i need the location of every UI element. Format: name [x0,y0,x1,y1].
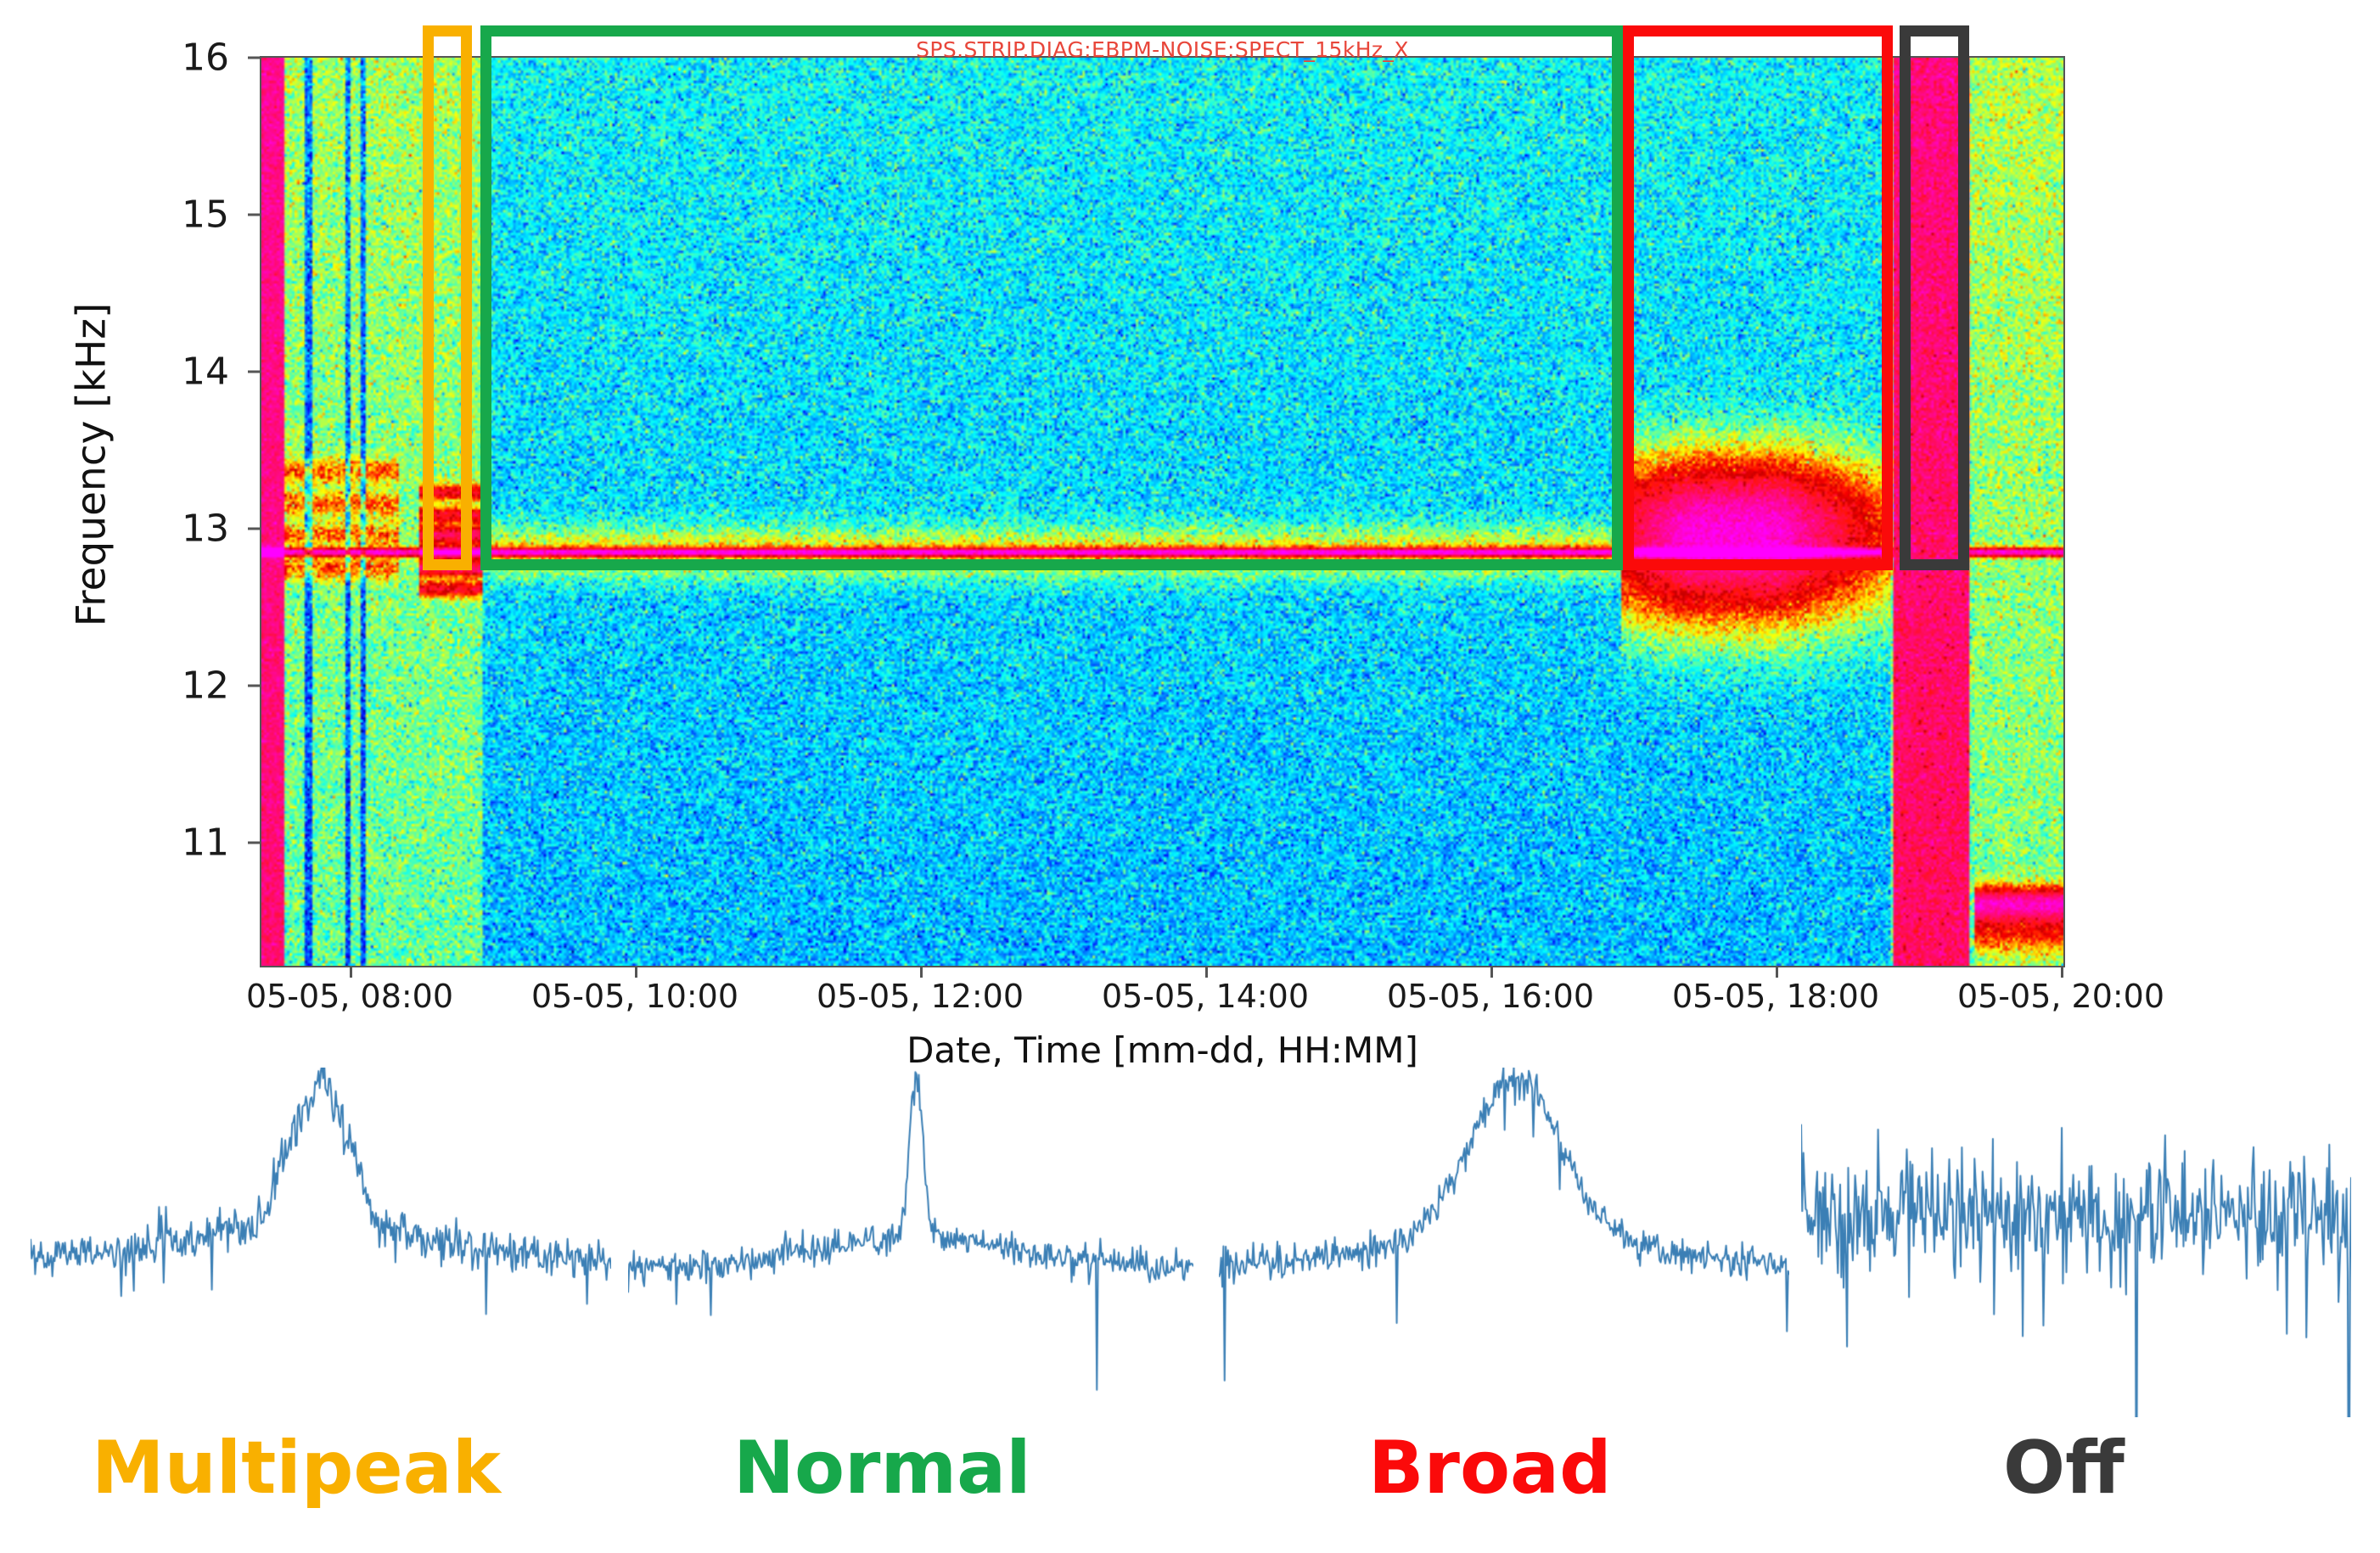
x-tick-mark [1776,967,1778,978]
spectrogram-figure: SPS.STRIP.DIAG:EBPM-NOISE:SPECT_15kHz_X … [0,0,2380,1553]
off-spectrum [1801,1061,2351,1417]
x-tick-label: 05-05, 10:00 [529,978,741,1015]
x-tick-mark [1205,967,1208,978]
normal-spectrum-trace [628,1068,1193,1424]
category-label-multipeak: Multipeak [92,1426,501,1511]
x-tick-mark [1490,967,1493,978]
x-tick-label: 05-05, 16:00 [1384,978,1597,1015]
multipeak-spectrum [31,1068,611,1424]
x-tick-mark [920,967,923,978]
x-tick-label: 05-05, 08:00 [244,978,456,1015]
x-tick-mark [2061,967,2063,978]
x-tick-mark [350,967,352,978]
region-box-broad[interactable] [1623,25,1893,570]
x-tick-label: 05-05, 12:00 [814,978,1026,1015]
region-box-normal[interactable] [480,25,1623,570]
category-label-off: Off [2003,1426,2125,1511]
x-axis-label: Date, Time [mm-dd, HH:MM] [260,1029,2065,1071]
off-spectrum-trace [1801,1061,2351,1417]
multipeak-spectrum-trace [31,1068,611,1424]
x-tick-mark [635,967,637,978]
region-box-multipeak[interactable] [423,25,472,570]
category-label-normal: Normal [733,1426,1031,1511]
x-tick-label: 05-05, 18:00 [1670,978,1882,1015]
region-box-off[interactable] [1900,25,1969,570]
broad-spectrum [1219,1068,1789,1424]
x-tick-label: 05-05, 20:00 [1955,978,2167,1015]
x-tick-label: 05-05, 14:00 [1099,978,1311,1015]
normal-spectrum [628,1068,1193,1424]
broad-spectrum-trace [1219,1068,1789,1424]
category-label-broad: Broad [1368,1426,1612,1511]
